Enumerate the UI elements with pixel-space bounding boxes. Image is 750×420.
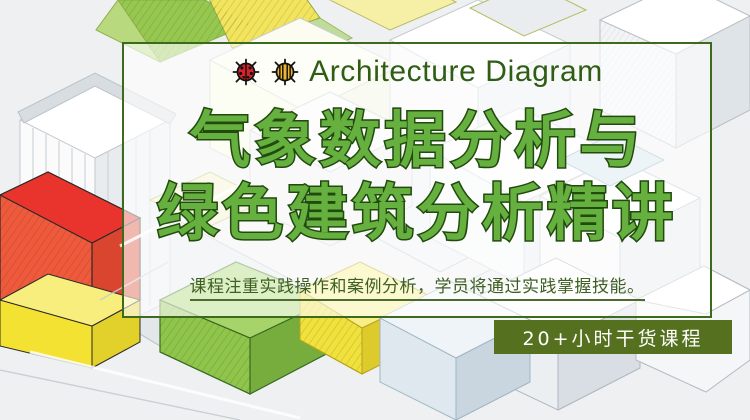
page-title: 气象数据分析与 绿色建筑分析精讲 — [122, 104, 712, 250]
title-line-1: 气象数据分析与 — [122, 104, 712, 177]
duration-badge: 20+小时干货课程 — [494, 320, 732, 354]
beetle-icon — [270, 58, 300, 86]
title-line-2: 绿色建筑分析精讲 — [122, 177, 712, 250]
duration-badge-text: 20+小时干货课程 — [522, 324, 703, 351]
subtitle: 课程注重实践操作和案例分析，学员将通过实践掌握技能。 — [122, 272, 712, 297]
eyebrow-title: Architecture Diagram — [309, 57, 603, 87]
ladybug-icon — [231, 58, 261, 86]
eyebrow-row: Architecture Diagram — [122, 46, 712, 98]
subtitle-text: 课程注重实践操作和案例分析，学员将通过实践掌握技能。 — [190, 277, 645, 301]
course-banner: Architecture Diagram 气象数据分析与 绿色建筑分析精讲 课程… — [0, 0, 750, 420]
